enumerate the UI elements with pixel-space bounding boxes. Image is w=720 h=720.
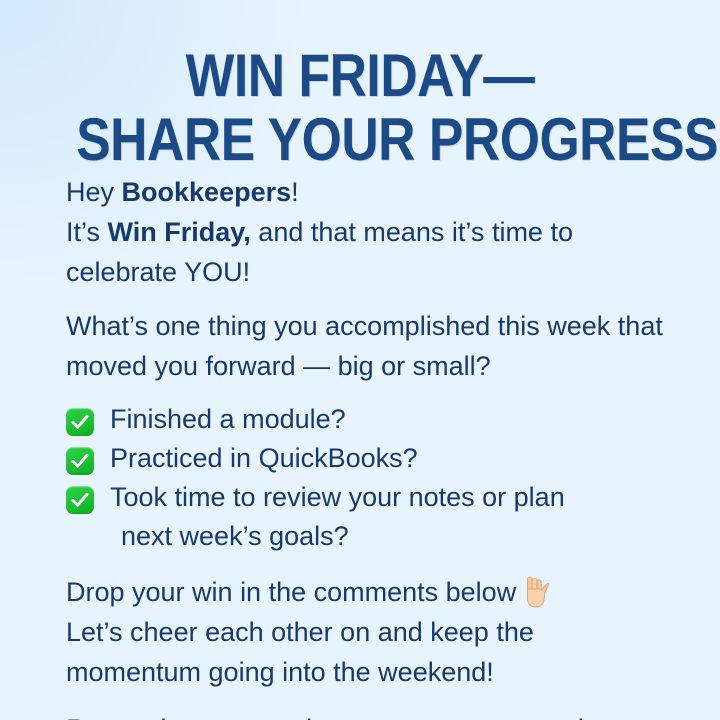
list-item-label: Finished a module? bbox=[110, 404, 346, 434]
page-title: WIN FRIDAY— SHARE YOUR PROGRESS! bbox=[0, 44, 720, 172]
white-heavy-check-mark-icon bbox=[66, 447, 94, 475]
headline-block: WIN FRIDAY— SHARE YOUR PROGRESS! bbox=[0, 0, 720, 172]
closing-line-1-text: Drop your win in the comments below bbox=[66, 577, 516, 607]
list-item-label-continued: next week’s goals? bbox=[110, 517, 668, 556]
greeting-line: Hey Bookkeepers! bbox=[66, 172, 668, 212]
white-heavy-check-mark-icon bbox=[66, 408, 94, 436]
closing-line-2: Let’s cheer each other on and keep the m… bbox=[66, 612, 668, 692]
list-item-label: Took time to review your notes or plan bbox=[110, 482, 565, 512]
closing-line-1: Drop your win in the comments below bbox=[66, 572, 668, 612]
intro-text-before: It’s bbox=[66, 217, 108, 247]
body-copy: Hey Bookkeepers! It’s Win Friday, and th… bbox=[0, 172, 720, 692]
greeting-text-before: Hey bbox=[66, 177, 122, 207]
list-item: Took time to review your notes or plan n… bbox=[66, 478, 668, 556]
white-heavy-check-mark-icon bbox=[66, 486, 94, 514]
headline-line-2: SHARE YOUR PROGRESS! bbox=[76, 108, 644, 172]
list-item: Practiced in QuickBooks? bbox=[66, 439, 668, 478]
headline-line-1: WIN FRIDAY— bbox=[76, 44, 644, 108]
social-post-canvas: WIN FRIDAY— SHARE YOUR PROGRESS! Hey Boo… bbox=[0, 0, 720, 720]
intro-highlight: Win Friday, bbox=[108, 217, 251, 247]
greeting-audience: Bookkeepers bbox=[122, 177, 292, 207]
backhand-index-pointing-down-icon bbox=[520, 576, 550, 610]
intro-paragraph: It’s Win Friday, and that means it’s tim… bbox=[66, 212, 668, 292]
greeting-text-after: ! bbox=[291, 177, 299, 207]
question-paragraph: What’s one thing you accomplished this w… bbox=[66, 306, 668, 386]
closing-block: Drop your win in the comments below Let’… bbox=[66, 572, 668, 692]
list-item: Finished a module? bbox=[66, 400, 668, 439]
clipped-bottom-line: Remember, every win counts — no matter h… bbox=[66, 709, 668, 720]
list-item-label: Practiced in QuickBooks? bbox=[110, 443, 418, 473]
checklist: Finished a module? Practiced in QuickBoo… bbox=[66, 400, 668, 556]
